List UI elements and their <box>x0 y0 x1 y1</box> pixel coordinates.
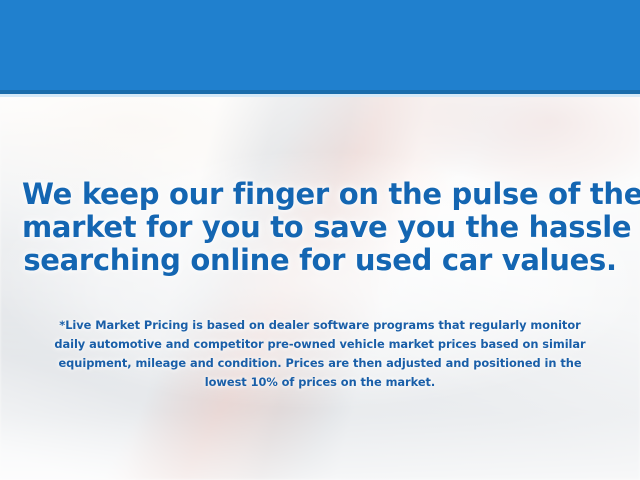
disclaimer-line-3: equipment, mileage and condition. Prices… <box>24 354 616 373</box>
disclaimer-block: *Live Market Pricing is based on dealer … <box>24 316 616 392</box>
headline-line-1: We keep our finger on the pulse of the <box>22 178 618 211</box>
headline-block: We keep our finger on the pulse of the m… <box>22 178 618 277</box>
live-market-pricing-slide: Live Market Pricing* We keep our finger … <box>0 0 640 480</box>
header-bottom-rule-light <box>0 94 640 97</box>
headline-line-2: market for you to save you the hassle of <box>22 211 618 244</box>
headline-line-3: searching online for used car values. <box>22 244 618 277</box>
disclaimer-line-1: *Live Market Pricing is based on dealer … <box>24 316 616 335</box>
header-banner <box>0 0 640 90</box>
disclaimer-line-4: lowest 10% of prices on the market. <box>24 373 616 392</box>
disclaimer-line-2: daily automotive and competitor pre-owne… <box>24 335 616 354</box>
